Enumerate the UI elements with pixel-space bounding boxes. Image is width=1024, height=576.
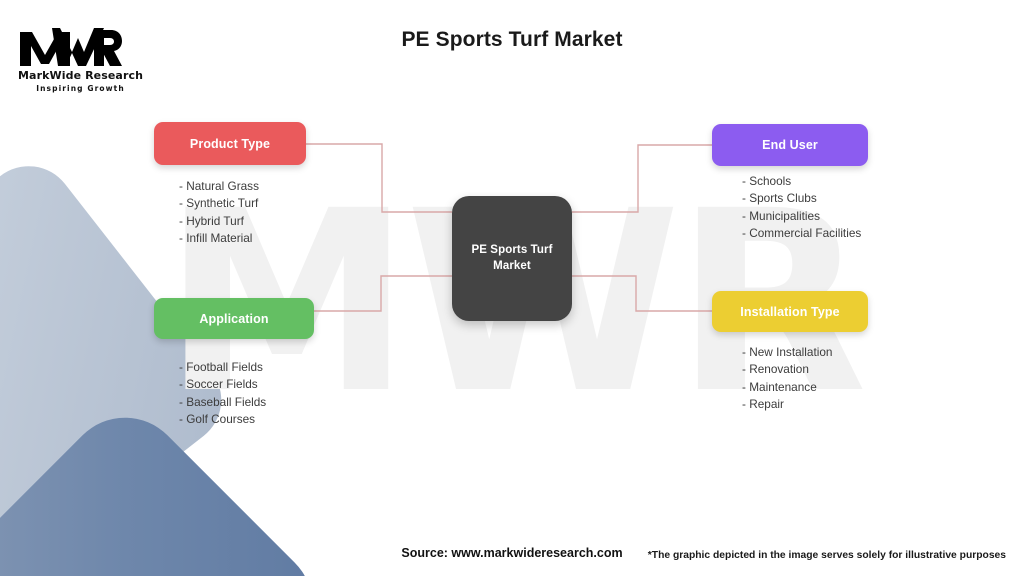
connector-product-type xyxy=(306,144,452,212)
list-item: - Synthetic Turf xyxy=(179,195,259,212)
list-item: - Soccer Fields xyxy=(179,376,266,393)
node-product-type[interactable]: Product Type xyxy=(154,122,306,165)
node-center-market[interactable]: PE Sports Turf Market xyxy=(452,196,572,321)
list-item: - Natural Grass xyxy=(179,178,259,195)
node-installation-type[interactable]: Installation Type xyxy=(712,291,868,332)
connector-end-user xyxy=(572,145,712,212)
list-product-type: - Natural Grass - Synthetic Turf - Hybri… xyxy=(179,178,259,248)
list-installation-type: - New Installation - Renovation - Mainte… xyxy=(742,344,832,414)
list-item: - New Installation xyxy=(742,344,832,361)
list-item: - Schools xyxy=(742,173,861,190)
disclaimer-label: *The graphic depicted in the image serve… xyxy=(648,550,1006,561)
list-item: - Football Fields xyxy=(179,359,266,376)
list-item: - Infill Material xyxy=(179,230,259,247)
list-item: - Municipalities xyxy=(742,208,861,225)
node-product-type-label: Product Type xyxy=(190,137,270,151)
node-application-label: Application xyxy=(199,312,268,326)
connector-application xyxy=(314,276,452,311)
list-application: - Football Fields - Soccer Fields - Base… xyxy=(179,359,266,429)
list-item: - Renovation xyxy=(742,361,832,378)
brand-tagline: Inspiring Growth xyxy=(18,84,143,93)
node-installation-type-label: Installation Type xyxy=(740,305,839,319)
node-end-user[interactable]: End User xyxy=(712,124,868,166)
list-item: - Golf Courses xyxy=(179,411,266,428)
list-item: - Sports Clubs xyxy=(742,190,861,207)
node-center-label-line1: PE Sports Turf xyxy=(471,243,552,259)
node-end-user-label: End User xyxy=(762,138,818,152)
connector-installation-type xyxy=(572,276,712,311)
list-item: - Commercial Facilities xyxy=(742,225,861,242)
page-title: PE Sports Turf Market xyxy=(0,28,1024,52)
list-end-user: - Schools - Sports Clubs - Municipalitie… xyxy=(742,173,861,243)
node-center-label-line2: Market xyxy=(471,259,552,275)
brand-name: MarkWide Research xyxy=(18,69,143,82)
list-item: - Hybrid Turf xyxy=(179,213,259,230)
node-application[interactable]: Application xyxy=(154,298,314,339)
list-item: - Maintenance xyxy=(742,379,832,396)
list-item: - Repair xyxy=(742,396,832,413)
list-item: - Baseball Fields xyxy=(179,394,266,411)
